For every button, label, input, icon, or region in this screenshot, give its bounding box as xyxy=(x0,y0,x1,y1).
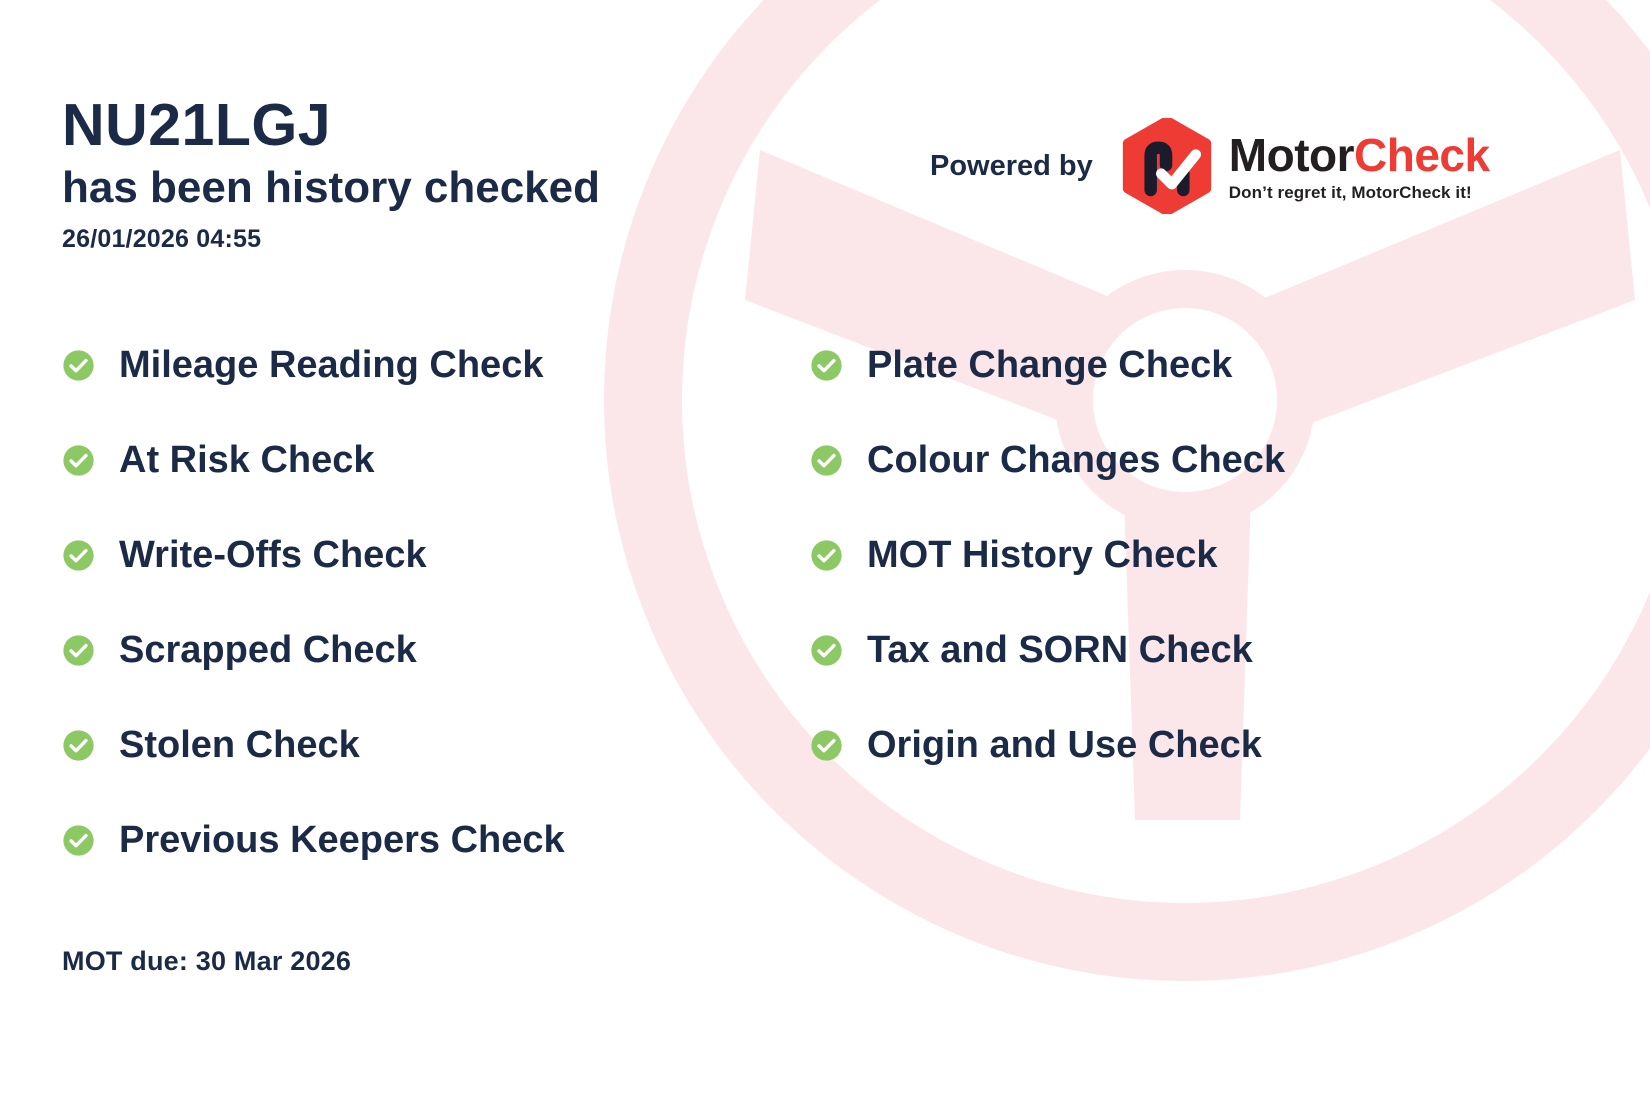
list-item: MOT History Check xyxy=(810,508,1510,603)
check-circle-icon xyxy=(810,444,843,477)
list-item: Plate Change Check xyxy=(810,318,1510,413)
check-circle-icon xyxy=(62,349,95,382)
list-item: Colour Changes Check xyxy=(810,413,1510,508)
motorcheck-logo[interactable]: MotorCheck Don’t regret it, MotorCheck i… xyxy=(1119,118,1490,214)
check-label: Plate Change Check xyxy=(867,345,1232,387)
wordmark-motor: Motor xyxy=(1229,129,1354,181)
list-item: Stolen Check xyxy=(62,698,810,793)
list-item: Tax and SORN Check xyxy=(810,603,1510,698)
wordmark-check: Check xyxy=(1354,129,1490,181)
check-label: Tax and SORN Check xyxy=(867,630,1253,672)
checks-right-column: Plate Change Check Colour Changes Check … xyxy=(810,318,1510,888)
check-timestamp: 26/01/2026 04:55 xyxy=(62,225,1588,254)
check-circle-icon xyxy=(810,729,843,762)
list-item: At Risk Check xyxy=(62,413,810,508)
check-circle-icon xyxy=(62,634,95,667)
check-label: Mileage Reading Check xyxy=(119,345,543,387)
motorcheck-wordmark: MotorCheck xyxy=(1229,132,1490,178)
check-label: Colour Changes Check xyxy=(867,440,1285,482)
check-circle-icon xyxy=(62,824,95,857)
list-item: Mileage Reading Check xyxy=(62,318,810,413)
list-item: Origin and Use Check xyxy=(810,698,1510,793)
list-item: Scrapped Check xyxy=(62,603,810,698)
check-circle-icon xyxy=(810,539,843,572)
motorcheck-hexagon-logo-icon xyxy=(1119,118,1215,214)
check-label: MOT History Check xyxy=(867,535,1218,577)
powered-by-label: Powered by xyxy=(930,150,1093,183)
list-item: Write-Offs Check xyxy=(62,508,810,603)
check-label: Previous Keepers Check xyxy=(119,820,565,862)
check-circle-icon xyxy=(810,349,843,382)
check-circle-icon xyxy=(62,444,95,477)
check-circle-icon xyxy=(810,634,843,667)
checks-left-column: Mileage Reading Check At Risk Check Writ… xyxy=(62,318,810,888)
checks-grid: Mileage Reading Check At Risk Check Writ… xyxy=(62,318,1542,888)
check-label: Write-Offs Check xyxy=(119,535,427,577)
list-item: Previous Keepers Check xyxy=(62,793,810,888)
check-label: Scrapped Check xyxy=(119,630,417,672)
vehicle-history-check-card: NU21LGJ has been history checked 26/01/2… xyxy=(0,0,1650,1100)
powered-by-block: Powered by MotorCheck Don’t regret it, M… xyxy=(930,118,1490,214)
motorcheck-tagline: Don’t regret it, MotorCheck it! xyxy=(1229,183,1490,203)
mot-due-text: MOT due: 30 Mar 2026 xyxy=(62,946,351,977)
check-circle-icon xyxy=(62,729,95,762)
check-circle-icon xyxy=(62,539,95,572)
check-label: Stolen Check xyxy=(119,725,360,767)
check-label: At Risk Check xyxy=(119,440,375,482)
check-label: Origin and Use Check xyxy=(867,725,1262,767)
